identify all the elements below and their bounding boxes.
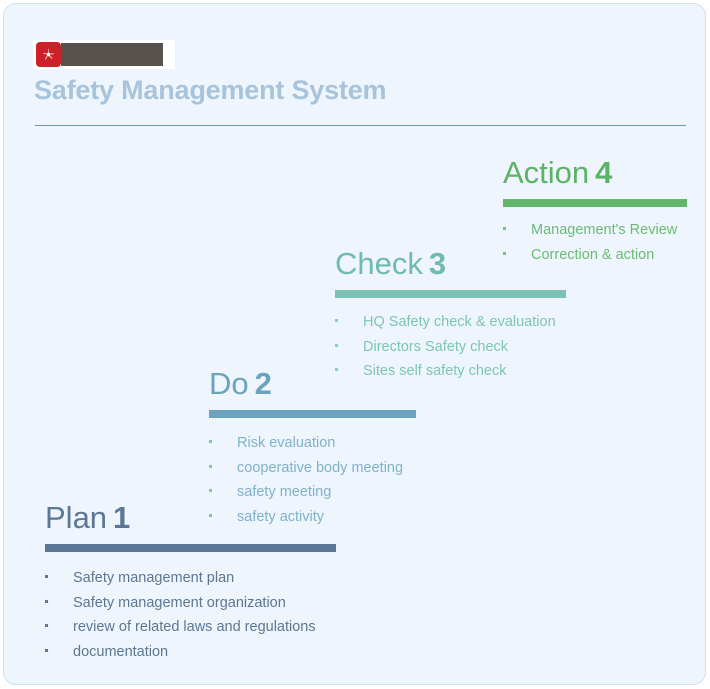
company-logo [33, 40, 175, 69]
header-divider [35, 125, 686, 126]
page-title: Safety Management System [34, 75, 386, 106]
list-item-label: Safety management plan [73, 571, 234, 586]
square-bullet-icon [209, 440, 212, 443]
square-bullet-icon [209, 489, 212, 492]
bullet-cell [45, 653, 73, 656]
stage-plan-list: Safety management plan Safety management… [45, 571, 336, 659]
bullet-cell [335, 348, 363, 351]
list-item: Safety management organization [45, 596, 336, 611]
stage-check-heading: Check3 [335, 248, 566, 279]
stage-check-word: Check [335, 246, 423, 281]
square-bullet-icon [45, 575, 48, 578]
stage-check-underline-bar [335, 290, 566, 298]
stage-do-word: Do [209, 366, 249, 401]
list-item: HQ Safety check & evaluation [335, 315, 566, 330]
bullet-cell [209, 444, 237, 447]
list-item-label: documentation [73, 645, 168, 660]
list-item-label: cooperative body meeting [237, 461, 403, 476]
list-item-label: Safety management organization [73, 596, 286, 611]
square-bullet-icon [45, 600, 48, 603]
bullet-cell [209, 493, 237, 496]
list-item: Directors Safety check [335, 340, 566, 355]
square-bullet-icon [209, 465, 212, 468]
bullet-cell [45, 604, 73, 607]
bullet-cell [503, 231, 531, 234]
square-bullet-icon [335, 319, 338, 322]
list-item-label: Management's Review [531, 223, 677, 238]
bullet-cell [209, 469, 237, 472]
square-bullet-icon [45, 649, 48, 652]
list-item-label: review of related laws and regulations [73, 620, 316, 635]
list-item: Risk evaluation [209, 436, 416, 451]
stage-action-number: 4 [595, 155, 612, 190]
square-bullet-icon [45, 624, 48, 627]
stage-plan-number: 1 [113, 500, 130, 535]
bullet-cell [45, 628, 73, 631]
stage-plan-underline-bar [45, 544, 336, 552]
list-item-label: Risk evaluation [237, 436, 335, 451]
list-item: cooperative body meeting [209, 461, 416, 476]
list-item: documentation [45, 645, 336, 660]
stage-action-heading: Action4 [503, 157, 687, 188]
stage-action-word: Action [503, 155, 589, 190]
bullet-cell [335, 323, 363, 326]
stage-do-number: 2 [255, 366, 272, 401]
stage-do-heading: Do2 [209, 368, 416, 399]
list-item: review of related laws and regulations [45, 620, 336, 635]
list-item: safety meeting [209, 485, 416, 500]
stage-do-underline-bar [209, 410, 416, 418]
pinwheel-flower-logo-icon [36, 42, 61, 67]
list-item: Management's Review [503, 223, 687, 238]
list-item-label: HQ Safety check & evaluation [363, 315, 556, 330]
bullet-cell [45, 579, 73, 582]
safety-management-system-card: Safety Management System Action4 Managem… [3, 3, 706, 685]
square-bullet-icon [335, 344, 338, 347]
stage-check-number: 3 [429, 246, 446, 281]
square-bullet-icon [503, 227, 506, 230]
stage-plan: Plan1 Safety management plan Safety mana… [45, 502, 336, 669]
stage-action-underline-bar [503, 199, 687, 207]
stage-plan-word: Plan [45, 500, 107, 535]
list-item: Safety management plan [45, 571, 336, 586]
stage-plan-heading: Plan1 [45, 502, 336, 533]
list-item-label: Directors Safety check [363, 340, 508, 355]
logo-wordmark-redaction [61, 43, 163, 66]
list-item-label: safety meeting [237, 485, 331, 500]
